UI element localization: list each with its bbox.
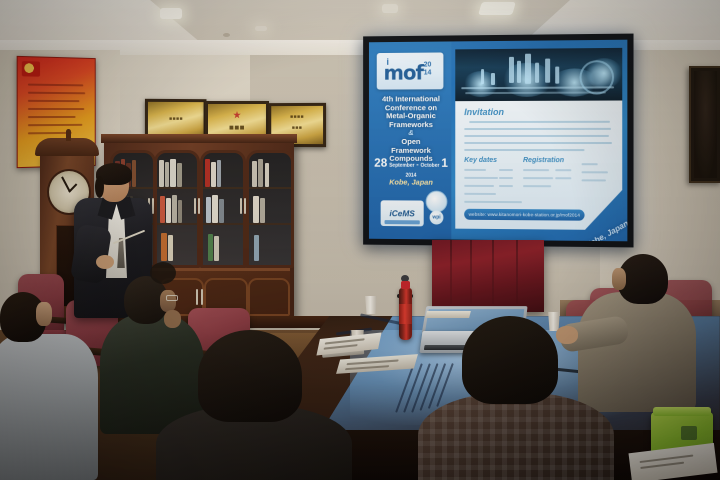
bottle-cap [401, 281, 410, 289]
eyeglasses-icon [166, 295, 178, 301]
slide-left-rail: i mof 20 14 4th International Conference… [369, 41, 451, 239]
date-day-start: 28 [374, 156, 387, 170]
conference-room-photo: ■■■■ ■■■ ■■■■ ■■■ [0, 0, 720, 480]
handout-paper [425, 311, 471, 318]
slide-content: i mof 20 14 4th International Conference… [369, 40, 627, 242]
wpi-logo [426, 191, 448, 213]
attendee-head-background [150, 262, 176, 284]
date-month-start: September [389, 163, 414, 169]
kobe-night-photo [455, 48, 622, 101]
presenter-hand [96, 255, 114, 269]
date-separator: - [416, 162, 418, 169]
photo-watermark-icon [579, 60, 614, 95]
mof-logo: i mof 20 14 [377, 52, 444, 89]
bottle-label [399, 304, 412, 324]
framed-art-canvas [694, 71, 717, 178]
attendee-dark-foreground-head [198, 330, 302, 422]
clock-minute-hand [61, 177, 70, 193]
icems-logo-bar [385, 220, 420, 224]
date-day-end: 1 [441, 156, 448, 170]
icems-logo: iCeMS [381, 200, 424, 226]
presenter-hair-side [95, 176, 104, 198]
party-emblem-icon [22, 61, 40, 77]
attendee-grey-jacket-body [578, 292, 696, 412]
icems-logo-text: iCeMS [389, 208, 414, 218]
cola-bottle[interactable] [399, 288, 412, 340]
mof-logo-year: 20 14 [424, 62, 432, 77]
smoke-detector-icon [223, 33, 230, 37]
date-month-end: October [421, 163, 440, 169]
attendee-face [36, 302, 52, 326]
conference-url-bar[interactable]: website: www.kitanomori-kobe-station.or.… [464, 209, 584, 221]
attendee-plaid-shirt-body [418, 392, 614, 480]
conference-location: Kobe, Japan [373, 178, 449, 187]
attendee-face [612, 268, 626, 290]
ceiling-downlight [478, 2, 516, 15]
attendee-hand [164, 310, 181, 328]
bookcase-cornice [101, 134, 297, 143]
attendee-hand [556, 326, 578, 344]
projection-screen: i mof 20 14 4th International Conference… [363, 34, 633, 248]
registration-heading: Registration [523, 157, 564, 164]
wpi-logo-secondary: wpi [430, 211, 444, 225]
ceiling-downlight [382, 4, 398, 13]
ceiling-downlight [160, 8, 182, 19]
star-icon [233, 111, 241, 119]
mof-logo-word: mof [384, 63, 423, 83]
slide-info-card: Invitation Key dates Registration [455, 48, 622, 230]
cabinet-panel [248, 278, 290, 316]
red-draped-table [432, 240, 544, 312]
clock-finial [66, 129, 71, 141]
framed-scroll [689, 66, 720, 183]
bag-tag [681, 426, 697, 440]
mof-year-top: 20 [424, 62, 432, 70]
bookcase-door[interactable] [246, 150, 294, 268]
conference-title: 4th International Conference on Metal-Or… [373, 95, 449, 163]
key-dates-heading: Key dates [464, 157, 497, 164]
attendee-plaid-shirt-head [462, 316, 558, 404]
attendee-left-foreground-body [0, 334, 98, 480]
invitation-heading: Invitation [464, 107, 504, 117]
mof-year-bottom: 14 [424, 69, 432, 77]
ceiling-downlight [255, 26, 267, 31]
bag-handle [653, 407, 711, 416]
attendee-face [160, 290, 176, 312]
